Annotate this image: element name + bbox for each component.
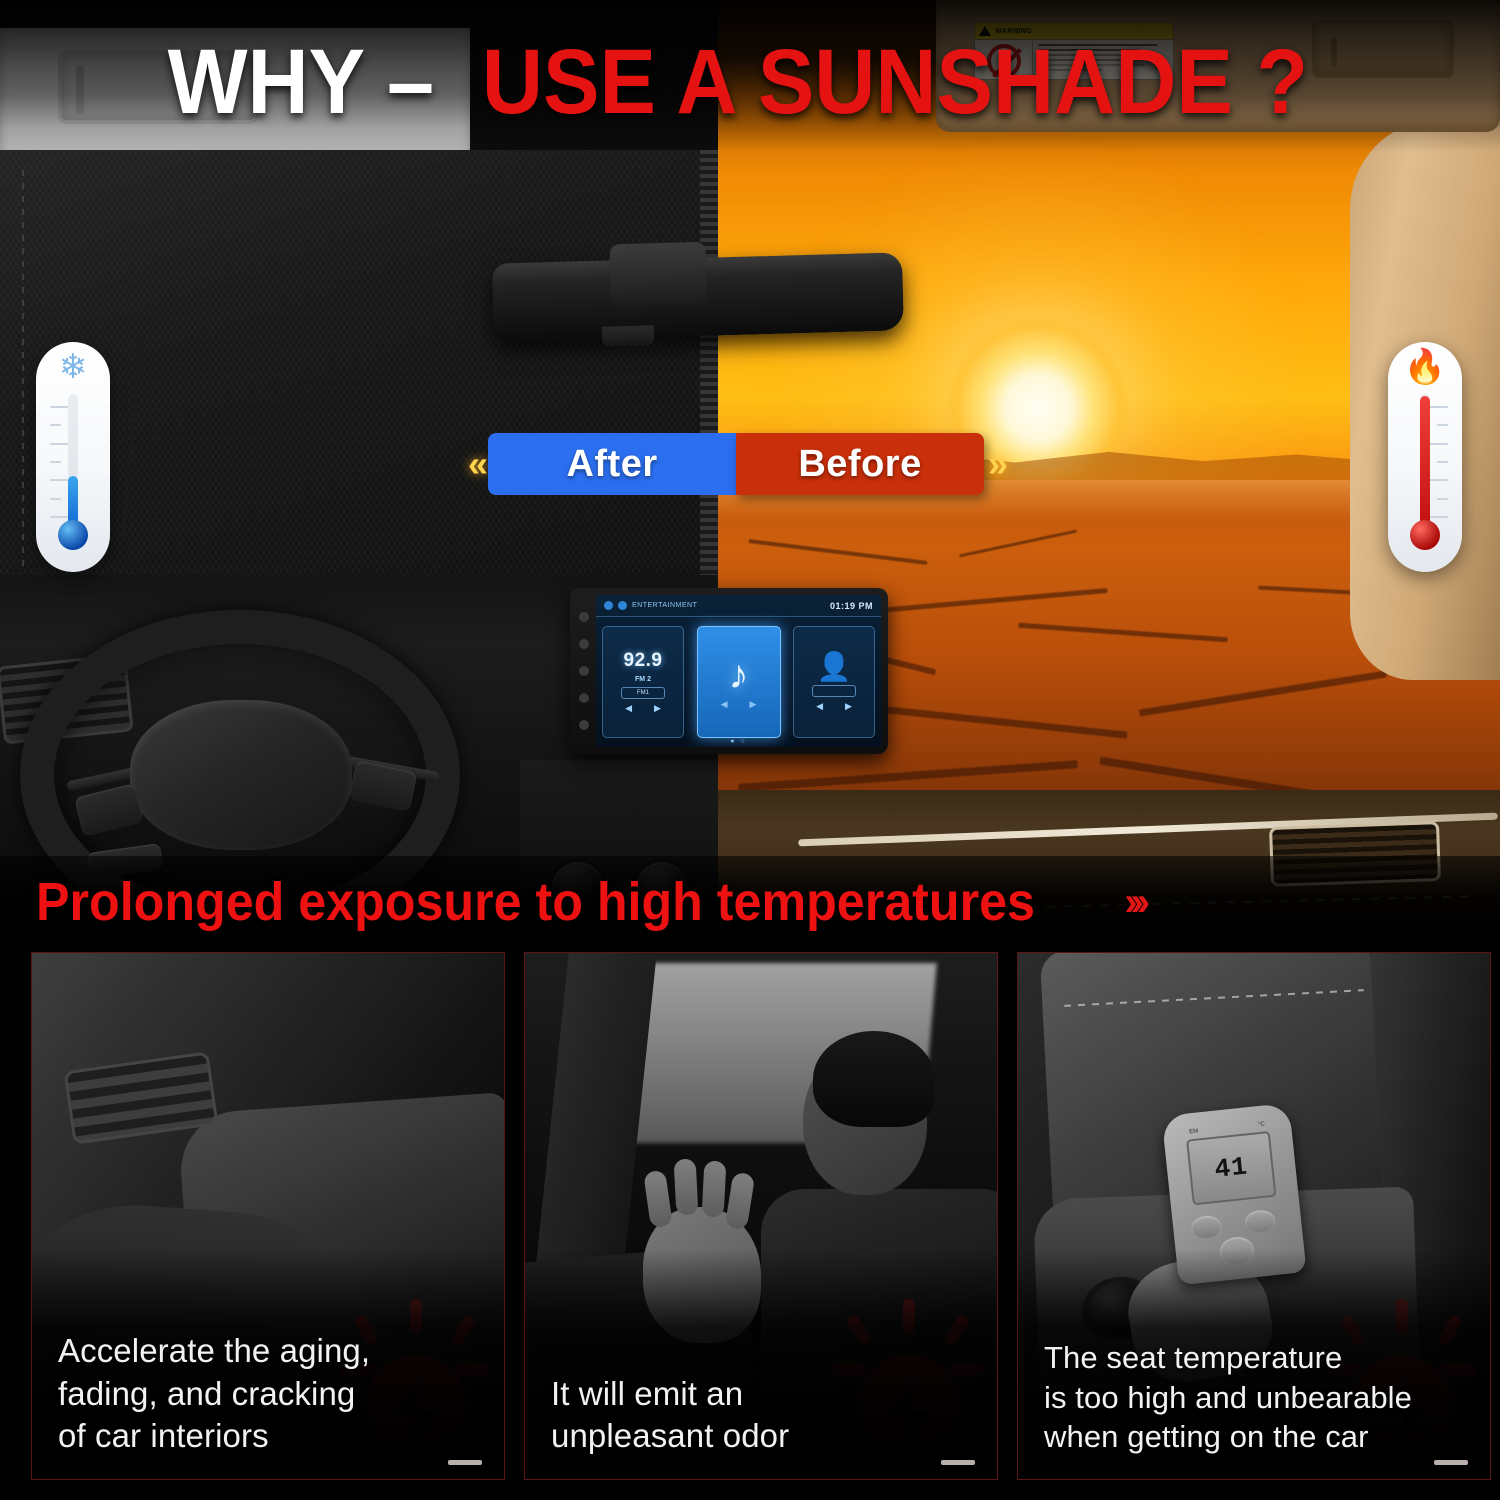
snowflake-icon: ❄ bbox=[36, 350, 110, 384]
hot-thermometer-bulb bbox=[1410, 520, 1440, 550]
panel-interior-aging: Accelerate the aging, fading, and cracki… bbox=[31, 952, 505, 1480]
chevron-right-icon: » bbox=[988, 446, 1002, 482]
ir-label-right: °C bbox=[1258, 1121, 1265, 1128]
radio-frequency: 92.9 bbox=[624, 650, 663, 672]
hot-thermometer-icon: 🔥 bbox=[1388, 342, 1462, 572]
ir-button-left[interactable] bbox=[1190, 1215, 1222, 1240]
panel-3-underscore bbox=[1434, 1460, 1468, 1465]
flame-icon: 🔥 bbox=[1388, 350, 1462, 384]
person-icon: 👤 bbox=[817, 653, 852, 681]
media-next-icon[interactable]: ▶ bbox=[750, 699, 757, 710]
sunshade-edge-binding bbox=[700, 150, 718, 580]
phone-call-pill[interactable] bbox=[812, 685, 856, 697]
after-badge: After bbox=[488, 433, 736, 495]
radio-prev-icon[interactable]: ◀ bbox=[625, 703, 632, 714]
phone-prev-icon[interactable]: ◀ bbox=[816, 701, 823, 712]
before-badge: Before bbox=[736, 433, 984, 495]
screen-source-label: ENTERTAINMENT bbox=[632, 602, 697, 609]
page-title-red-part: USE A SUNSHADE ? bbox=[482, 36, 1308, 128]
mirror-camera-housing bbox=[609, 242, 707, 307]
bluetooth-icon bbox=[604, 601, 613, 610]
panel-3-caption: The seat temperature is too high and unb… bbox=[1044, 1338, 1474, 1457]
ir-label-left: EM bbox=[1189, 1128, 1199, 1135]
screen-page-dots: ● ○ bbox=[596, 738, 881, 745]
radio-next-icon[interactable]: ▶ bbox=[654, 703, 661, 714]
panel-3-caption-line-3: when getting on the car bbox=[1044, 1417, 1474, 1457]
panel-1-caption-line-1: Accelerate the aging, bbox=[58, 1330, 488, 1372]
radio-preset-pill[interactable]: FM1 bbox=[621, 687, 665, 699]
panel-1-caption: Accelerate the aging, fading, and cracki… bbox=[58, 1330, 488, 1457]
chevron-left-icon: « bbox=[468, 446, 482, 482]
cold-thermometer-icon: ❄ bbox=[36, 342, 110, 572]
phone-next-icon[interactable]: ▶ bbox=[845, 701, 852, 712]
head-unit-key-nav[interactable] bbox=[579, 693, 589, 703]
cold-thermometer-bulb bbox=[58, 520, 88, 550]
panel-1-underscore bbox=[448, 1460, 482, 1465]
panel-unpleasant-odor: It will emit an unpleasant odor bbox=[524, 952, 998, 1480]
benefit-panels: Accelerate the aging, fading, and cracki… bbox=[0, 948, 1500, 1500]
product-infographic: WARNING bbox=[0, 0, 1500, 1500]
panel-1-caption-line-2: fading, and cracking bbox=[58, 1373, 488, 1415]
subhead-text: Prolonged exposure to high temperatures bbox=[36, 875, 1035, 929]
panel-seat-temperature: EM °C 41 bbox=[1017, 952, 1491, 1480]
sunshade-seam bbox=[22, 170, 24, 570]
radio-band: FM 2 bbox=[635, 676, 651, 683]
media-prev-icon[interactable]: ◀ bbox=[721, 699, 728, 710]
head-unit-key-power[interactable] bbox=[579, 612, 589, 622]
hot-thermometer-mercury bbox=[1420, 396, 1430, 536]
page-title: WHY – USE A SUNSHADE ? bbox=[0, 36, 1500, 128]
panel-2-caption-line-2: unpleasant odor bbox=[551, 1415, 981, 1457]
phone-tile[interactable]: 👤 ◀ ▶ bbox=[793, 626, 875, 738]
panel-2-caption: It will emit an unpleasant odor bbox=[551, 1373, 981, 1457]
panel-2-underscore bbox=[941, 1460, 975, 1465]
ir-button-right[interactable] bbox=[1244, 1209, 1276, 1234]
subhead-chevrons-icon: ››› bbox=[1124, 880, 1143, 925]
panel-1-caption-line-3: of car interiors bbox=[58, 1415, 488, 1457]
ir-display: 41 bbox=[1186, 1131, 1276, 1205]
panel-2-caption-line-1: It will emit an bbox=[551, 1373, 981, 1415]
rearview-mirror bbox=[492, 252, 904, 341]
head-unit-key-home[interactable] bbox=[579, 639, 589, 649]
screen-status-bar: ENTERTAINMENT 01:19 PM bbox=[596, 595, 881, 617]
p2-person-hair bbox=[813, 1031, 935, 1127]
radio-tile[interactable]: 92.9 FM 2 FM1 ◀ ▶ bbox=[602, 626, 684, 738]
head-unit-side-keys[interactable] bbox=[576, 604, 592, 738]
head-unit-key-menu[interactable] bbox=[579, 720, 589, 730]
music-note-icon: ♪ bbox=[729, 655, 749, 695]
steering-wheel-hub bbox=[130, 700, 352, 850]
infotainment-head-unit[interactable]: ENTERTAINMENT 01:19 PM 92.9 FM 2 FM1 ◀ ▶ bbox=[570, 588, 888, 754]
screen-clock: 01:19 PM bbox=[830, 601, 873, 611]
media-tile[interactable]: ♪ ◀ ▶ bbox=[697, 626, 781, 738]
infotainment-screen[interactable]: ENTERTAINMENT 01:19 PM 92.9 FM 2 FM1 ◀ ▶ bbox=[596, 595, 881, 747]
panel-3-caption-line-1: The seat temperature bbox=[1044, 1338, 1474, 1378]
ir-reading: 41 bbox=[1213, 1151, 1249, 1184]
panel-3-caption-line-2: is too high and unbearable bbox=[1044, 1378, 1474, 1418]
mirror-stem bbox=[602, 325, 655, 346]
page-title-white-part: WHY – bbox=[168, 36, 435, 128]
subhead-band: Prolonged exposure to high temperatures … bbox=[0, 856, 1500, 948]
settings-gear-icon bbox=[618, 601, 627, 610]
head-unit-key-media[interactable] bbox=[579, 666, 589, 676]
before-after-badge-group: « After Before » bbox=[468, 433, 1002, 495]
